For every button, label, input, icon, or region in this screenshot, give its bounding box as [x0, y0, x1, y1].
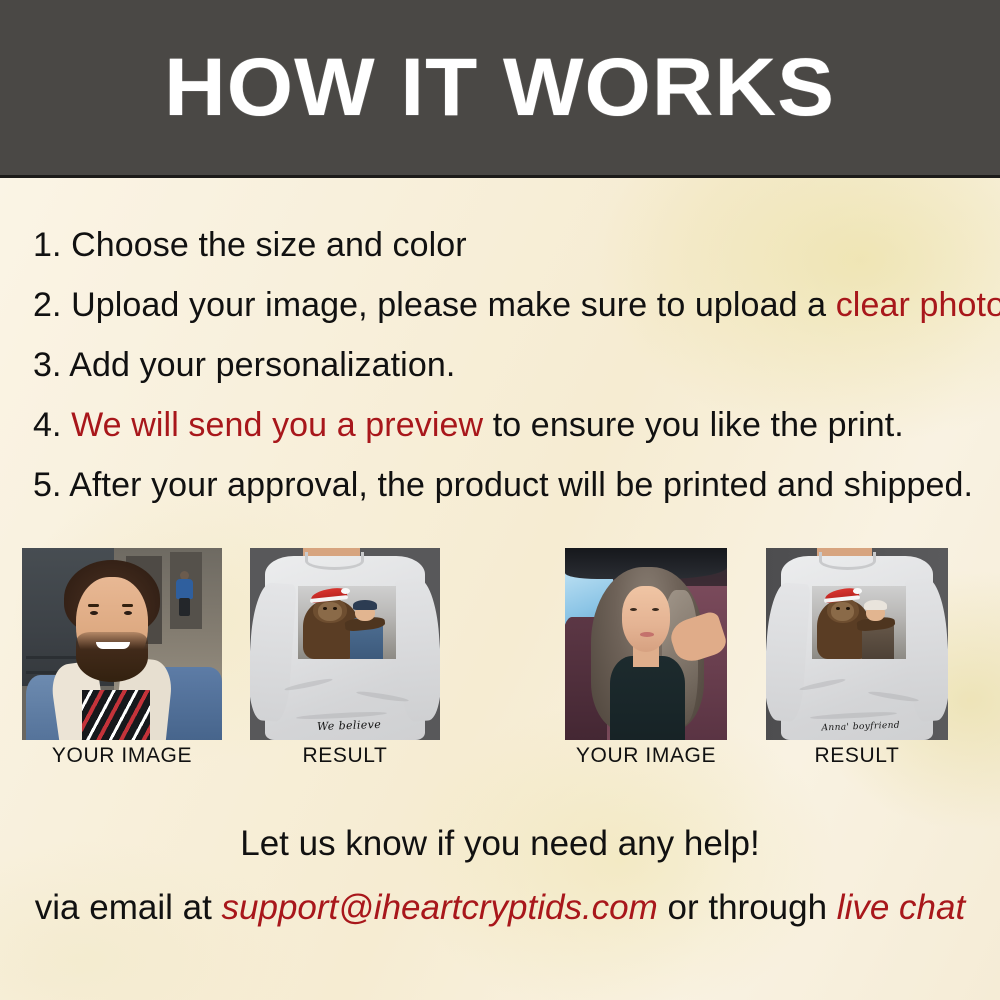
footer-help-block: Let us know if you need any help! via em… [0, 818, 1000, 934]
product-photo-womens-sweatshirt: Anna' boyfriend [766, 548, 948, 740]
striped-shirt [82, 690, 150, 740]
steps-list: 1. Choose the size and color 2. Upload y… [33, 215, 973, 515]
bigfoot-eye-right [333, 607, 337, 610]
photo-slot-3: YOUR IMAGE [565, 548, 727, 740]
woman-eye-left [630, 608, 637, 611]
step-item-1: 1. Choose the size and color [33, 215, 973, 275]
step-2-highlight: clear photo [836, 286, 1000, 324]
customer-photo-man [22, 548, 222, 740]
bigfoot-eye-left-2 [836, 607, 840, 610]
footer-or-text: or through [658, 888, 837, 927]
step-item-3: 3. Add your personalization. [33, 335, 973, 395]
footer-contact-line: via email at support@iheartcryptids.com … [0, 882, 1000, 934]
step-3-text: 3. Add your personalization. [33, 346, 455, 384]
bigfoot-eye-left [323, 607, 327, 610]
background-pedestrian [174, 571, 196, 617]
man-beard [76, 632, 148, 682]
footer-email-prefix: via email at [35, 888, 222, 927]
shirt-print-artwork [298, 586, 397, 659]
product-photo-mens-shirt: We believe [250, 548, 440, 740]
live-chat-link[interactable]: live chat [837, 888, 965, 927]
bigfoot-face [318, 602, 342, 620]
smile-teeth [96, 642, 130, 649]
step-4-highlight: We will send you a preview [71, 406, 483, 444]
header-banner: HOW IT WORKS [0, 0, 1000, 178]
woman-eye-right [652, 608, 659, 611]
bigfoot-face-2 [831, 602, 854, 620]
printed-person-beanie-2 [864, 600, 887, 611]
pedestrian-legs [179, 598, 190, 616]
example-photo-strip: YOUR IMAGE [0, 548, 1000, 778]
step-4-text: to ensure you like the print. [483, 406, 904, 444]
step-2-text: 2. Upload your image, please make sure t… [33, 286, 836, 324]
eyebrow-right [122, 604, 133, 607]
step-4-number: 4. [33, 406, 71, 444]
page-title: HOW IT WORKS [165, 47, 836, 129]
step-item-5: 5. After your approval, the product will… [33, 455, 973, 515]
step-1-text: 1. Choose the size and color [33, 226, 467, 264]
eyebrow-left [88, 604, 99, 607]
step-item-4: 4. We will send you a preview to ensure … [33, 395, 973, 455]
photo-slot-1: YOUR IMAGE [22, 548, 222, 740]
bigfoot-eye-right-2 [846, 607, 850, 610]
footer-help-text: Let us know if you need any help! [0, 818, 1000, 870]
black-turtleneck-top [610, 656, 685, 740]
sweatshirt-print-artwork [812, 586, 907, 659]
pedestrian-jacket [176, 579, 193, 599]
santa-hat-pom-2 [853, 588, 862, 594]
photo-slot-2: We believe RESULT [250, 548, 440, 740]
how-it-works-infographic: HOW IT WORKS 1. Choose the size and colo… [0, 0, 1000, 1000]
sweatshirt-collar [819, 552, 876, 570]
photo-slot-4: Anna' boyfriend RESULT [766, 548, 948, 740]
support-email-link[interactable]: support@iheartcryptids.com [222, 888, 658, 927]
printed-person-beanie [353, 600, 377, 610]
woman-face [622, 586, 671, 651]
customer-photo-woman [565, 548, 727, 740]
step-5-text: 5. After your approval, the product will… [33, 466, 973, 504]
santa-hat-pom [341, 588, 350, 594]
step-item-2: 2. Upload your image, please make sure t… [33, 275, 973, 335]
photo-caption-1: YOUR IMAGE [22, 744, 222, 768]
photo-caption-2: RESULT [250, 744, 440, 768]
photo-caption-3: YOUR IMAGE [565, 744, 727, 768]
photo-caption-4: RESULT [766, 744, 948, 768]
